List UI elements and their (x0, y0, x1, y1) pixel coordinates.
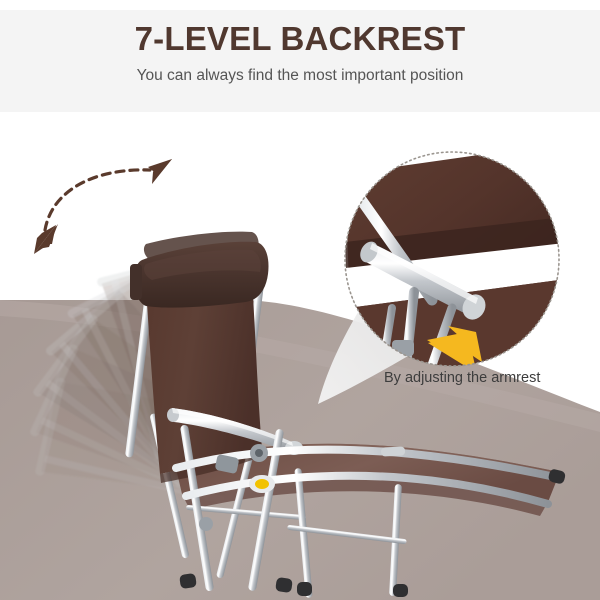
product-feature-image: 7-LEVEL BACKREST You can always find the… (0, 0, 600, 600)
top-white-strip (0, 0, 600, 10)
armrest-detail-circle[interactable] (343, 150, 563, 370)
headrest-pillow (130, 232, 269, 308)
footrest-metal-tab (381, 446, 405, 456)
page-subtitle: You can always find the most important p… (0, 68, 600, 84)
callout-caption: By adjusting the armrest (384, 370, 540, 386)
brand-badge (249, 475, 275, 493)
page-title: 7-LEVEL BACKREST (0, 22, 600, 55)
product-photo: By adjusting the armrest (0, 112, 600, 600)
recline-arc-arrow (34, 159, 172, 254)
